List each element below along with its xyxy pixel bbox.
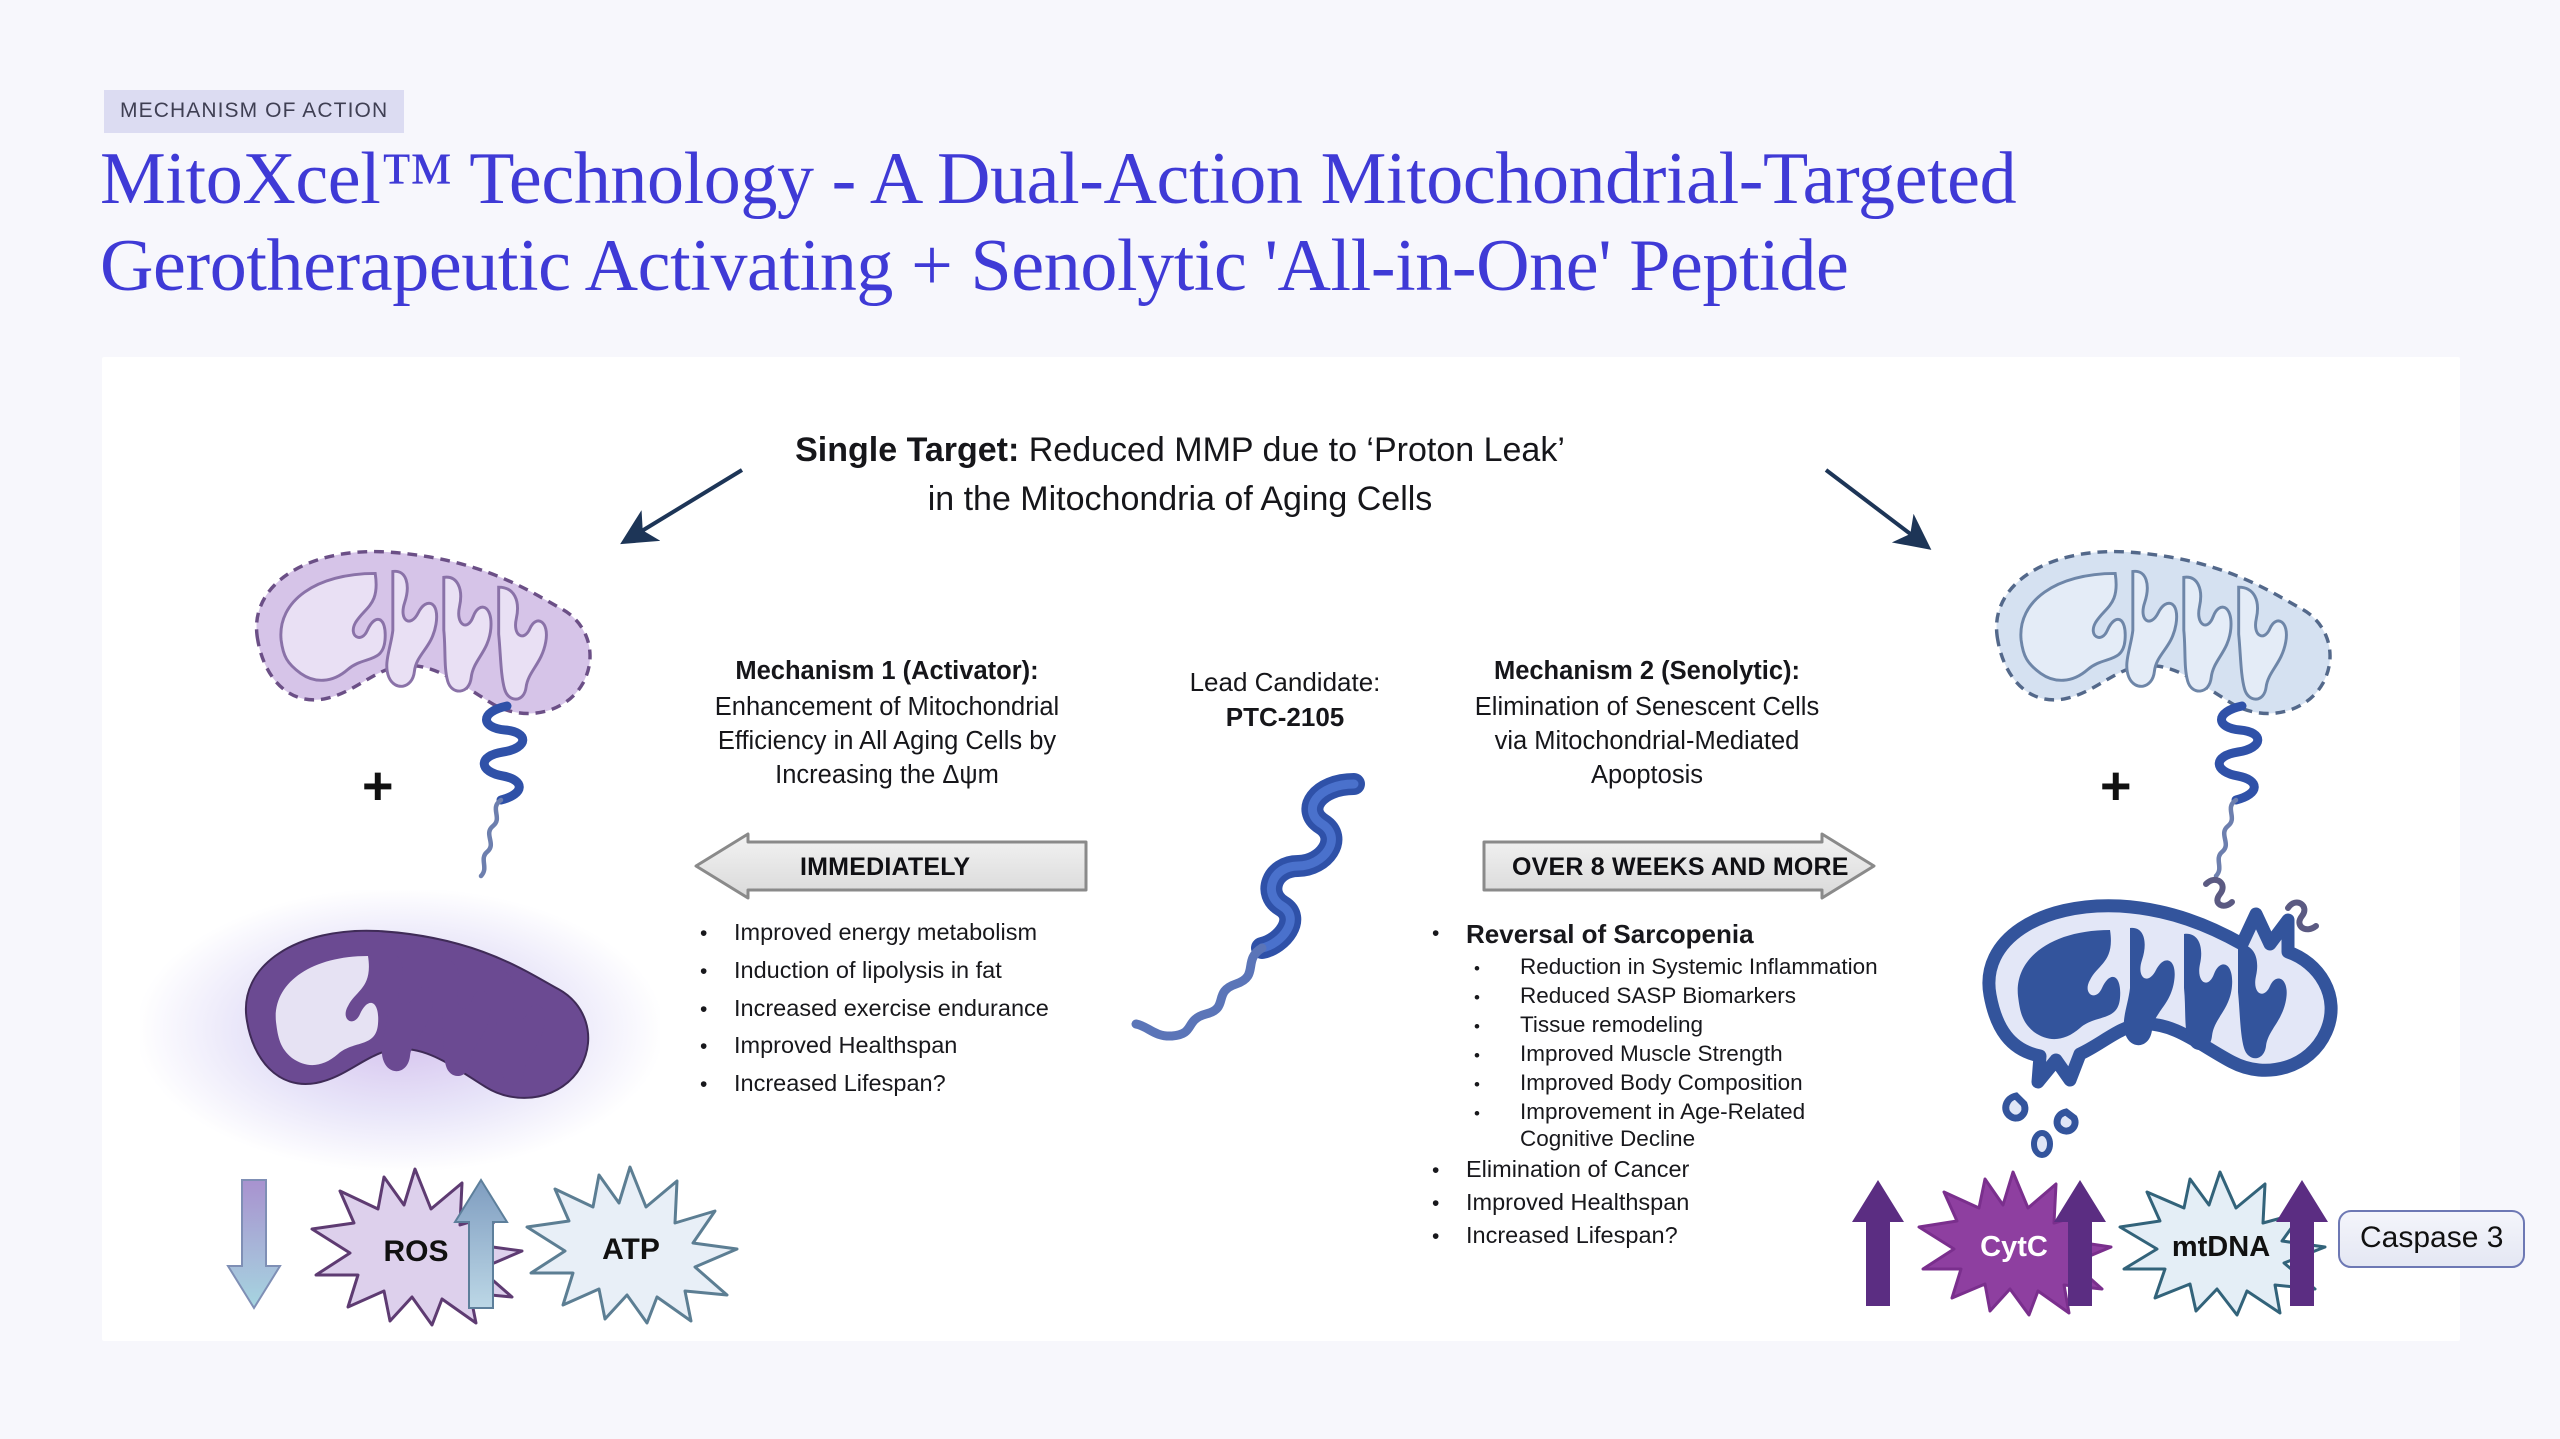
process-label-over-8-weeks: OVER 8 WEEKS AND MORE — [1512, 853, 1849, 882]
badge-atp: ATP — [515, 1163, 745, 1323]
mechanism-1-block: Mechanism 1 (Activator): Enhancement of … — [672, 655, 1102, 793]
list-item-label: Increased Lifespan? — [1466, 1220, 1902, 1251]
list-item: Tissue remodeling — [1474, 1011, 1902, 1038]
single-target-rest: Reduced MMP due to ‘Proton Leak’ — [1019, 431, 1565, 469]
mechanism-1-bullets: Improved energy metabolism Induction of … — [700, 917, 1120, 1106]
list-item: Reduction in Systemic Inflammation — [1474, 953, 1902, 980]
mito-fragment — [2057, 1112, 2075, 1131]
bullet-icon — [1474, 1040, 1520, 1067]
mechanism-1-line3: Increasing the Δψm — [775, 761, 999, 789]
arrow-up-caspase — [2276, 1180, 2336, 1310]
list-item-label: Tissue remodeling — [1520, 1011, 1902, 1038]
list-item: Improved Healthspan — [1432, 1187, 1902, 1218]
arrow-down-ros — [228, 1180, 288, 1320]
single-target-line1: Single Target: Reduced MMP due to ‘Proto… — [560, 426, 1800, 475]
bullet-icon — [700, 917, 734, 948]
bullet-icon — [1474, 982, 1520, 1009]
mechanism-2-line3: Apoptosis — [1591, 761, 1703, 789]
bullet-icon — [700, 993, 734, 1024]
page-title-line2: Gerotherapeutic Activating + Senolytic '… — [100, 223, 2500, 310]
slide-canvas: MECHANISM OF ACTION MitoXcel™ Technology… — [0, 0, 2560, 1439]
arrow-up-mtdna — [2054, 1180, 2114, 1310]
list-item-label: Elimination of Cancer — [1466, 1154, 1902, 1185]
list-item-label: Induction of lipolysis in fat — [734, 955, 1120, 986]
helix-coil-left — [484, 706, 523, 800]
bullet-icon — [1432, 917, 1466, 948]
process-arrow-immediately: IMMEDIATELY — [690, 832, 1090, 900]
mechanism-1-heading: Mechanism 1 (Activator): — [672, 655, 1102, 689]
plus-symbol-right: + — [2100, 755, 2132, 817]
lead-candidate-block: Lead Candidate: PTC-2105 — [1160, 665, 1410, 735]
list-item: Increased Lifespan? — [1432, 1220, 1902, 1251]
mechanism-2-line1: Elimination of Senescent Cells — [1475, 693, 1819, 721]
plus-symbol-left: + — [362, 755, 394, 817]
list-item-label: Increased exercise endurance — [734, 993, 1120, 1024]
mechanism-2-bullets: Reversal of Sarcopenia Reduction in Syst… — [1432, 917, 1902, 1252]
badge-caspase-3: Caspase 3 — [2338, 1210, 2525, 1268]
list-item: Increased Lifespan? — [700, 1068, 1120, 1099]
list-item: Reversal of Sarcopenia — [1432, 917, 1902, 952]
list-item-label: Reduction in Systemic Inflammation — [1520, 953, 1902, 980]
bullet-icon — [1474, 1098, 1520, 1125]
bullet-icon — [1432, 1154, 1466, 1185]
arrow-up-cytc — [1852, 1180, 1912, 1310]
mito-fragment — [2034, 1133, 2050, 1155]
eyebrow-badge: MECHANISM OF ACTION — [104, 90, 404, 133]
bullet-icon — [1474, 1011, 1520, 1038]
badge-cytc-label: CytC — [1980, 1231, 2048, 1263]
up-arrow-shape — [1852, 1180, 1904, 1306]
mechanism-1-line1: Enhancement of Mitochondrial — [715, 693, 1059, 721]
mechanism-1-line2: Efficiency in All Aging Cells by — [718, 727, 1056, 755]
helix-tail-center — [1136, 948, 1262, 1036]
list-item: Improved Body Composition — [1474, 1069, 1902, 1096]
badge-mtdna-label: mtDNA — [2172, 1231, 2270, 1263]
bullet-icon — [1474, 1069, 1520, 1096]
down-arrow-shape — [228, 1180, 280, 1308]
mechanism-2-line2: via Mitochondrial-Mediated — [1495, 727, 1800, 755]
page-title-line1: MitoXcel™ Technology - A Dual-Action Mit… — [100, 136, 2500, 223]
list-item-label: Improved energy metabolism — [734, 917, 1120, 948]
bullet-icon — [1432, 1187, 1466, 1218]
process-label-immediately: IMMEDIATELY — [800, 853, 970, 882]
list-item: Elimination of Cancer — [1432, 1154, 1902, 1185]
list-item-label: Improved Healthspan — [1466, 1187, 1902, 1218]
bullet-icon — [1432, 1220, 1466, 1251]
peptide-helix-left — [445, 700, 565, 890]
mechanism-2-heading: Mechanism 2 (Senolytic): — [1432, 655, 1862, 689]
list-item: Improvement in Age-Related Cognitive Dec… — [1474, 1098, 1902, 1153]
peptide-helix-right — [2180, 700, 2300, 890]
list-item-label: Improvement in Age-Related Cognitive Dec… — [1520, 1098, 1902, 1153]
mitochondrion-bottom-right — [1960, 880, 2390, 1180]
list-item: Induction of lipolysis in fat — [700, 955, 1120, 986]
lead-candidate-label: Lead Candidate: — [1190, 667, 1381, 697]
list-item-label: Improved Muscle Strength — [1520, 1040, 1902, 1067]
list-item: Improved Healthspan — [700, 1030, 1120, 1061]
list-item-label: Reversal of Sarcopenia — [1466, 917, 1902, 952]
helix-coil-right — [2219, 706, 2258, 800]
helix-tail-left — [481, 800, 501, 876]
list-item-label: Reduced SASP Biomarkers — [1520, 982, 1902, 1009]
up-arrow-shape — [2054, 1180, 2106, 1306]
peptide-helix-center — [1122, 762, 1422, 1032]
arrow-up-atp — [455, 1180, 515, 1320]
up-arrow-shape — [2276, 1180, 2328, 1306]
single-target-line2: in the Mitochondria of Aging Cells — [560, 475, 1800, 524]
list-item-label: Increased Lifespan? — [734, 1068, 1120, 1099]
list-item-label: Improved Healthspan — [734, 1030, 1120, 1061]
bullet-icon — [700, 1068, 734, 1099]
single-target-heading: Single Target: Reduced MMP due to ‘Proto… — [560, 426, 1800, 524]
list-item: Improved Muscle Strength — [1474, 1040, 1902, 1067]
mechanism-2-block: Mechanism 2 (Senolytic): Elimination of … — [1432, 655, 1862, 793]
list-item: Improved energy metabolism — [700, 917, 1120, 948]
list-item: Reduced SASP Biomarkers — [1474, 982, 1902, 1009]
bullet-icon — [700, 955, 734, 986]
up-arrow-shape — [455, 1180, 507, 1308]
list-item-label: Improved Body Composition — [1520, 1069, 1902, 1096]
badge-ros-label: ROS — [383, 1235, 448, 1268]
page-title: MitoXcel™ Technology - A Dual-Action Mit… — [100, 136, 2500, 309]
process-arrow-over-8-weeks: OVER 8 WEEKS AND MORE — [1480, 832, 1880, 900]
released-strand — [2206, 880, 2232, 906]
lead-candidate-value: PTC-2105 — [1160, 700, 1410, 735]
badge-atp-label: ATP — [602, 1233, 660, 1266]
single-target-prefix: Single Target: — [795, 431, 1019, 469]
mitochondrion-bottom-left — [222, 920, 602, 1120]
mito-fragment — [2006, 1096, 2025, 1118]
list-item: Increased exercise endurance — [700, 993, 1120, 1024]
bullet-icon — [700, 1030, 734, 1061]
helix-tail-right — [2216, 800, 2236, 876]
bullet-icon — [1474, 953, 1520, 980]
